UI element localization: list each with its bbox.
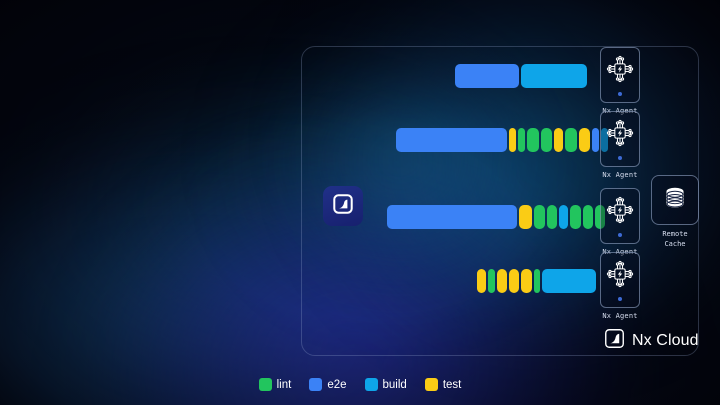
legend-label-lint: lint bbox=[277, 379, 292, 391]
nx-agent-box bbox=[600, 252, 640, 308]
nx-agent-node: Nx Agent bbox=[600, 47, 640, 115]
nx-agent-node: Nx Agent bbox=[600, 111, 640, 179]
task-segment-test[interactable] bbox=[497, 269, 507, 293]
task-segment-test[interactable] bbox=[521, 269, 532, 293]
remote-cache-box bbox=[651, 175, 699, 225]
remote-cache-label-line2: Cache bbox=[651, 239, 699, 249]
legend: linte2ebuildtest bbox=[0, 378, 720, 391]
task-segment-lint[interactable] bbox=[534, 205, 545, 229]
legend-swatch-build bbox=[365, 378, 378, 391]
nx-logo-icon bbox=[604, 328, 625, 354]
remote-cache-label: Remote Cache bbox=[651, 229, 699, 249]
nx-agent-label: Nx Agent bbox=[600, 312, 640, 320]
nx-agent-node: Nx Agent bbox=[600, 188, 640, 256]
nx-cloud-label: Nx Cloud bbox=[632, 332, 699, 350]
task-segment-lint[interactable] bbox=[583, 205, 593, 229]
diagram-canvas: Nx AgentNx AgentNx AgentNx Agent bbox=[0, 0, 720, 405]
remote-cache-node: Remote Cache bbox=[651, 175, 699, 249]
database-stack-icon bbox=[661, 184, 689, 217]
nx-agent-chip-icon bbox=[605, 118, 635, 153]
legend-label-test: test bbox=[443, 379, 462, 391]
task-segment-test[interactable] bbox=[509, 128, 516, 152]
legend-item-e2e[interactable]: e2e bbox=[309, 378, 346, 391]
task-segment-test[interactable] bbox=[509, 269, 519, 293]
nx-agent-node: Nx Agent bbox=[600, 252, 640, 320]
remote-cache-label-line1: Remote bbox=[651, 229, 699, 239]
nx-agent-chip-icon bbox=[605, 259, 635, 294]
nx-agent-box bbox=[600, 47, 640, 103]
task-segment-test[interactable] bbox=[519, 205, 532, 229]
task-segment-lint[interactable] bbox=[534, 269, 540, 293]
task-segment-test[interactable] bbox=[579, 128, 590, 152]
task-segment-build[interactable] bbox=[521, 64, 587, 88]
task-bar-row bbox=[396, 128, 608, 152]
nx-cloud-wordmark: Nx Cloud bbox=[604, 328, 699, 354]
task-segment-lint[interactable] bbox=[547, 205, 557, 229]
task-segment-test[interactable] bbox=[477, 269, 486, 293]
task-bar-row bbox=[455, 64, 587, 88]
task-bar-row bbox=[477, 269, 596, 293]
status-dot bbox=[618, 92, 622, 96]
nx-agent-label: Nx Agent bbox=[600, 171, 640, 179]
task-segment-lint[interactable] bbox=[541, 128, 552, 152]
legend-swatch-test bbox=[425, 378, 438, 391]
nx-agent-box bbox=[600, 111, 640, 167]
status-dot bbox=[618, 233, 622, 237]
task-segment-lint[interactable] bbox=[565, 128, 577, 152]
legend-label-e2e: e2e bbox=[327, 379, 346, 391]
task-segment-lint[interactable] bbox=[488, 269, 495, 293]
task-bar-row bbox=[387, 205, 605, 229]
task-segment-e2e[interactable] bbox=[396, 128, 507, 152]
task-segment-lint[interactable] bbox=[527, 128, 539, 152]
task-segment-test[interactable] bbox=[554, 128, 563, 152]
task-segment-e2e[interactable] bbox=[387, 205, 517, 229]
task-segment-build[interactable] bbox=[542, 269, 596, 293]
nx-agent-box bbox=[600, 188, 640, 244]
task-segment-build[interactable] bbox=[559, 205, 568, 229]
task-segment-lint[interactable] bbox=[518, 128, 525, 152]
task-segment-e2e[interactable] bbox=[592, 128, 599, 152]
legend-item-test[interactable]: test bbox=[425, 378, 462, 391]
legend-label-build: build bbox=[383, 379, 407, 391]
task-segment-e2e[interactable] bbox=[455, 64, 519, 88]
task-segment-lint[interactable] bbox=[570, 205, 581, 229]
legend-item-lint[interactable]: lint bbox=[259, 378, 292, 391]
status-dot bbox=[618, 297, 622, 301]
nx-agent-chip-icon bbox=[605, 54, 635, 89]
status-dot bbox=[618, 156, 622, 160]
legend-swatch-lint bbox=[259, 378, 272, 391]
legend-item-build[interactable]: build bbox=[365, 378, 407, 391]
nx-agent-chip-icon bbox=[605, 195, 635, 230]
legend-swatch-e2e bbox=[309, 378, 322, 391]
